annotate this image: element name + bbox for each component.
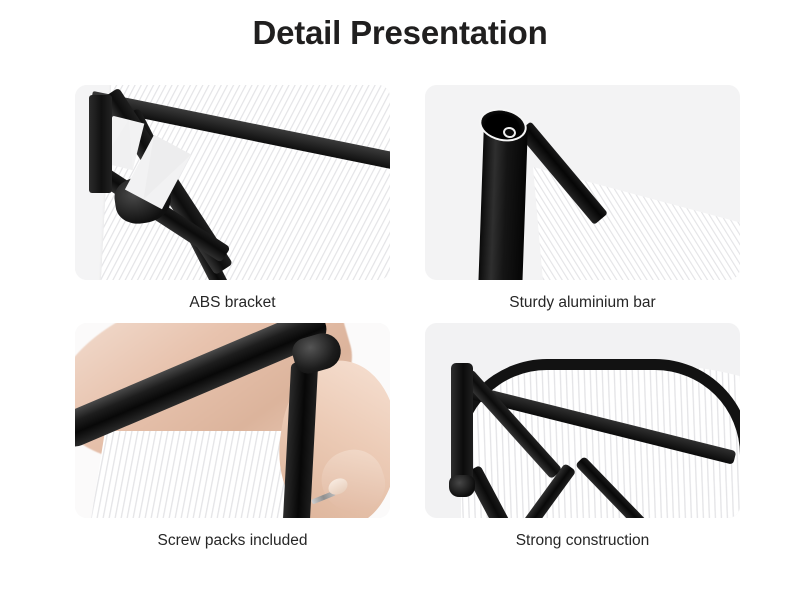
- bracket-foot: [449, 475, 475, 497]
- detail-panel-grid: ABS bracket Sturdy aluminium bar: [75, 85, 740, 550]
- caption-screw-packs: Screw packs included: [75, 518, 390, 551]
- caption-aluminium-bar: Sturdy aluminium bar: [425, 280, 740, 313]
- strong-construction-photo: [425, 323, 740, 518]
- caption-abs-bracket: ABS bracket: [75, 280, 390, 313]
- detail-panel-aluminium-bar: Sturdy aluminium bar: [425, 85, 740, 313]
- detail-panel-abs-bracket: ABS bracket: [75, 85, 390, 313]
- bracket-wall-plate: [89, 95, 112, 193]
- aluminium-bar-photo: [425, 85, 740, 280]
- page-title: Detail Presentation: [0, 14, 800, 52]
- detail-panel-screw-packs: Screw packs included: [75, 323, 390, 551]
- caption-strong-construction: Strong construction: [425, 518, 740, 551]
- screw-packs-photo: [75, 323, 390, 518]
- bracket-wall-plate: [451, 363, 473, 488]
- abs-bracket-photo: [75, 85, 390, 280]
- aluminium-tube-body: [478, 120, 528, 280]
- detail-panel-strong-construction: Strong construction: [425, 323, 740, 551]
- detail-presentation-page: Detail Presentation ABS bracket: [0, 0, 800, 600]
